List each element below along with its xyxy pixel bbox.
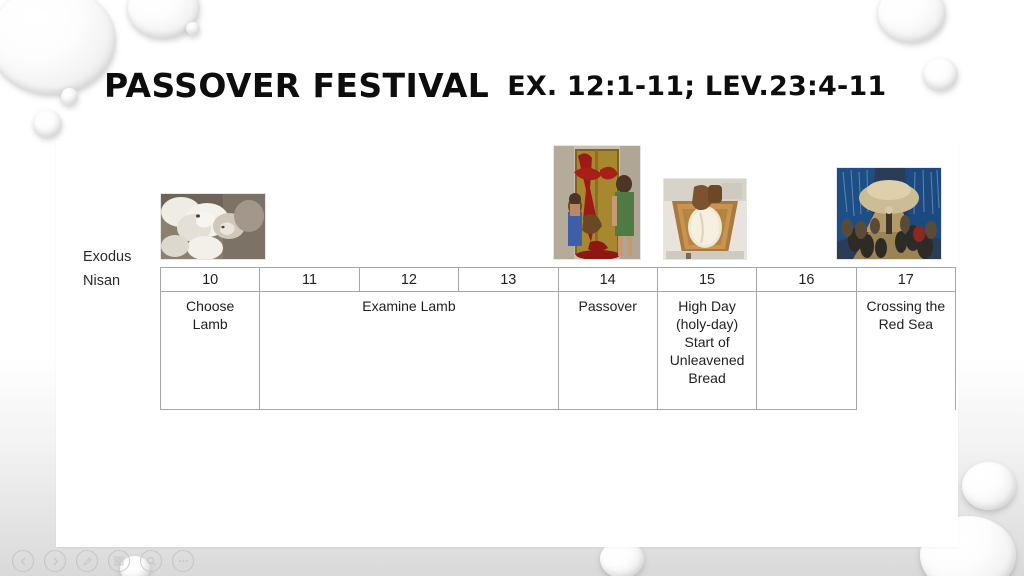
- droplet-decoration-icon: [186, 22, 200, 35]
- day-cell-10: 10: [161, 268, 260, 292]
- droplet-decoration-icon: [61, 88, 78, 105]
- pen-tool-icon[interactable]: [76, 550, 98, 572]
- slide-title: PASSOVER FESTIVAL EX. 12:1-11; LEV.23:4-…: [104, 62, 964, 108]
- table-row-events: ChooseLamb Examine Lamb Passover High Da…: [161, 292, 956, 410]
- presenter-toolbar[interactable]: [0, 546, 1024, 576]
- more-options-icon[interactable]: [172, 550, 194, 572]
- event-cell-crossing-red-sea: Crossing theRed Sea: [856, 292, 955, 410]
- event-text: High Day(holy-day)Start ofUnleavenedBrea…: [658, 297, 756, 387]
- passover-timeline-graphic: Exodus Nisan: [56, 141, 958, 421]
- event-text: Passover: [559, 297, 657, 315]
- event-cell-day-16: [757, 292, 856, 410]
- row-label-nisan: Nisan: [83, 269, 163, 293]
- day-cell-17: 17: [856, 268, 955, 292]
- event-text: ChooseLamb: [161, 297, 259, 333]
- event-cell-choose-lamb: ChooseLamb: [161, 292, 260, 410]
- event-cell-examine-lamb: Examine Lamb: [260, 292, 558, 410]
- event-cell-high-day: High Day(holy-day)Start ofUnleavenedBrea…: [657, 292, 756, 410]
- droplet-decoration-icon: [962, 462, 1016, 510]
- day-cell-12: 12: [359, 268, 458, 292]
- crossing-red-sea-photo: [836, 167, 942, 260]
- day-cell-11: 11: [260, 268, 359, 292]
- droplet-decoration-icon: [128, 0, 200, 38]
- table-row-days: 10 11 12 13 14 15 16 17: [161, 268, 956, 292]
- droplet-decoration-icon: [878, 0, 946, 42]
- page-title: PASSOVER FESTIVAL: [104, 66, 489, 105]
- day-cell-13: 13: [459, 268, 558, 292]
- droplet-decoration-icon: [34, 110, 62, 137]
- timeline-row-labels: Exodus Nisan: [83, 245, 163, 293]
- row-label-exodus: Exodus: [83, 245, 163, 269]
- passover-day-table: 10 11 12 13 14 15 16 17 ChooseLamb Exami…: [160, 267, 956, 410]
- day-cell-16: 16: [757, 268, 856, 292]
- all-slides-grid-icon[interactable]: [108, 550, 130, 572]
- day-cell-14: 14: [558, 268, 657, 292]
- event-cell-passover: Passover: [558, 292, 657, 410]
- lambs-photo: [160, 193, 266, 260]
- scripture-reference: EX. 12:1-11; LEV.23:4-11: [507, 68, 886, 102]
- event-text: Crossing theRed Sea: [857, 297, 955, 333]
- previous-slide-icon[interactable]: [12, 550, 34, 572]
- presentation-slide: PASSOVER FESTIVAL EX. 12:1-11; LEV.23:4-…: [0, 0, 1024, 576]
- event-text: Examine Lamb: [260, 297, 557, 315]
- next-slide-icon[interactable]: [44, 550, 66, 572]
- droplet-decoration-icon: [0, 0, 116, 94]
- day-cell-15: 15: [657, 268, 756, 292]
- zoom-tool-icon[interactable]: [140, 550, 162, 572]
- unleavened-bread-dough-photo: [663, 178, 747, 260]
- blood-on-doorposts-photo: [553, 145, 641, 260]
